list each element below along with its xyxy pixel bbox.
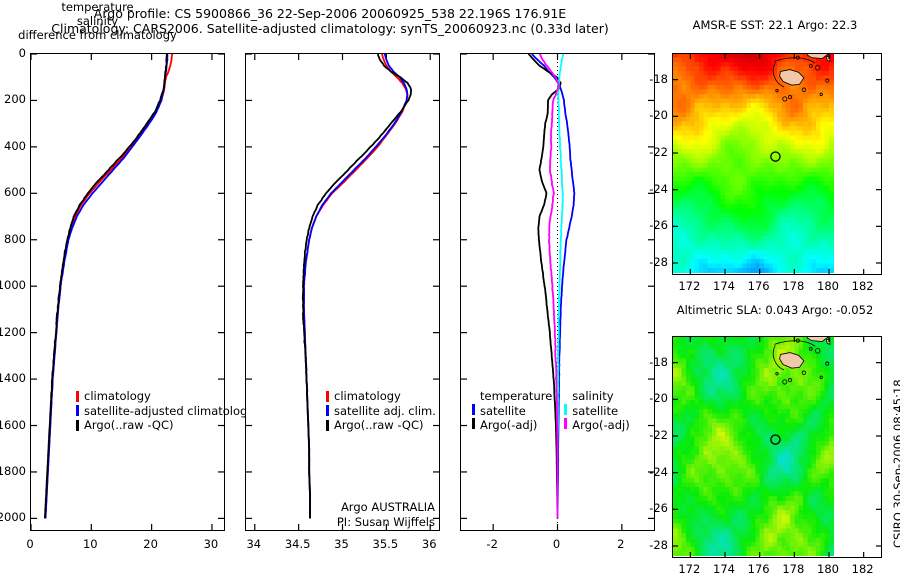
difference-legend-label: Argo(-adj) [480, 418, 537, 432]
salinity-legend-label: satellite adj. clim. [334, 404, 436, 419]
difference-legend: temperaturesatelliteArgo(-adj)salinitysa… [472, 389, 652, 433]
salinity-legend-label: climatology [334, 389, 401, 404]
temperature-legend-item: satellite-adjusted climatology [76, 404, 254, 419]
ytick-1400: 1400 [0, 371, 26, 385]
difference-legend-label: Argo(-adj) [572, 418, 629, 432]
ytick-600: 600 [0, 185, 26, 199]
difference-legend-label: satellite [572, 404, 618, 418]
figure-title: Argo profile: CS 5900866_36 22-Sep-2006 … [0, 6, 660, 36]
difference-legend-label: satellite [480, 404, 526, 418]
ytick-400: 400 [0, 139, 26, 153]
sla-map-panel [672, 336, 882, 558]
sst-map-panel [672, 53, 882, 275]
legend-color-swatch-icon [76, 420, 79, 431]
legend-color-swatch-icon [326, 420, 329, 431]
xtick-sal-svg-36: 36 [407, 537, 451, 551]
salinity-profile-chart [246, 54, 439, 530]
ytick-200: 200 [0, 92, 26, 106]
salinity-legend-item: Argo(..raw -QC) [326, 418, 436, 433]
legend-color-swatch-icon [472, 404, 475, 415]
legend-color-swatch-icon [76, 405, 79, 416]
difference-legend-heading: salinity [572, 389, 629, 404]
difference-legend-item: Argo(-adj) [472, 418, 552, 433]
difference-legend-group: temperaturesatelliteArgo(-adj) [472, 389, 552, 433]
title-line-2: Climatology: CARS2006. Satellite-adjuste… [0, 21, 660, 36]
map-ytick-sst-svg--24: -24 [642, 182, 668, 196]
salinity-legend: climatologysatellite adj. clim.Argo(..ra… [326, 389, 436, 433]
xtick-diff-svg-2: 2 [599, 537, 643, 551]
temperature-profile-chart [31, 54, 224, 530]
difference-plot-panel [460, 53, 655, 531]
difference-legend-item: satellite [564, 404, 629, 419]
csiro-timestamp: CSIRO 30-Sep-2006 08:45:18 [891, 379, 900, 548]
difference-legend-group: salinitysatelliteArgo(-adj) [564, 389, 629, 433]
legend-color-swatch-icon [472, 418, 475, 429]
map-ytick-sla-svg--20: -20 [642, 391, 668, 405]
xtick-sal-svg-34: 34 [232, 537, 276, 551]
temperature-legend-label: satellite-adjusted climatology [84, 404, 254, 419]
map-ytick-sst-svg--18: -18 [642, 72, 668, 86]
sla-map-image [673, 337, 881, 557]
map-xtick-sst-svg-182: 182 [843, 279, 883, 293]
map-ytick-sla-svg--28: -28 [642, 538, 668, 552]
xtick-diff-svg--2: -2 [470, 537, 514, 551]
ytick-0: 0 [0, 46, 26, 60]
difference-legend-heading: temperature [480, 389, 552, 404]
temperature-legend: climatologysatellite-adjusted climatolog… [76, 389, 254, 433]
temperature-legend-label: Argo(..raw -QC) [84, 418, 174, 433]
map-ytick-sst-svg--20: -20 [642, 108, 668, 122]
xtick-sal-svg-34.5: 34.5 [276, 537, 320, 551]
xtick-temp-svg-10: 10 [68, 537, 112, 551]
xtick-sal-svg-35: 35 [320, 537, 364, 551]
difference-legend-item: satellite [472, 404, 552, 419]
sst-map-title: AMSR-E SST: 22.1 Argo: 22.3 [660, 18, 890, 32]
difference-profile-chart [461, 54, 654, 530]
temperature-legend-item: Argo(..raw -QC) [76, 418, 254, 433]
map-ytick-sst-svg--28: -28 [642, 255, 668, 269]
argo-credit: Argo AUSTRALIA PI: Susan Wijffels [250, 500, 435, 529]
ytick-2000: 2000 [0, 510, 26, 524]
legend-color-swatch-icon [326, 391, 329, 402]
salinity-legend-label: Argo(..raw -QC) [334, 418, 424, 433]
map-ytick-sst-svg--26: -26 [642, 218, 668, 232]
map-xtick-sla-svg-182: 182 [843, 562, 883, 576]
temperature-plot-panel [30, 53, 225, 531]
temperature-legend-item: climatology [76, 389, 254, 404]
sla-map-title: Altimetric SLA: 0.043 Argo: -0.052 [660, 303, 890, 317]
legend-color-swatch-icon [564, 404, 567, 415]
map-ytick-sla-svg--18: -18 [642, 355, 668, 369]
map-ytick-sla-svg--22: -22 [642, 428, 668, 442]
map-ytick-sla-svg--24: -24 [642, 465, 668, 479]
ytick-1800: 1800 [0, 464, 26, 478]
title-line-1: Argo profile: CS 5900866_36 22-Sep-2006 … [0, 6, 660, 21]
ytick-1200: 1200 [0, 325, 26, 339]
xtick-temp-svg-30: 30 [189, 537, 233, 551]
xtick-diff-svg-0: 0 [535, 537, 579, 551]
difference-legend-columns: temperaturesatelliteArgo(-adj)salinitysa… [472, 389, 652, 433]
argo-credit-line-2: PI: Susan Wijffels [250, 515, 435, 530]
xtick-temp-svg-20: 20 [129, 537, 173, 551]
ytick-1600: 1600 [0, 418, 26, 432]
temperature-legend-label: climatology [84, 389, 151, 404]
xtick-sal-svg-35.5: 35.5 [363, 537, 407, 551]
salinity-plot-panel [245, 53, 440, 531]
ytick-800: 800 [0, 232, 26, 246]
argo-credit-line-1: Argo AUSTRALIA [250, 500, 435, 515]
difference-legend-item: Argo(-adj) [564, 418, 629, 433]
ytick-1000: 1000 [0, 278, 26, 292]
xtick-temp-svg-0: 0 [8, 537, 52, 551]
map-ytick-sla-svg--26: -26 [642, 501, 668, 515]
map-ytick-sst-svg--22: -22 [642, 145, 668, 159]
legend-color-swatch-icon [326, 405, 329, 416]
legend-color-swatch-icon [564, 418, 567, 429]
salinity-legend-item: climatology [326, 389, 436, 404]
salinity-legend-item: satellite adj. clim. [326, 404, 436, 419]
sst-map-image [673, 54, 881, 274]
legend-color-swatch-icon [76, 391, 79, 402]
